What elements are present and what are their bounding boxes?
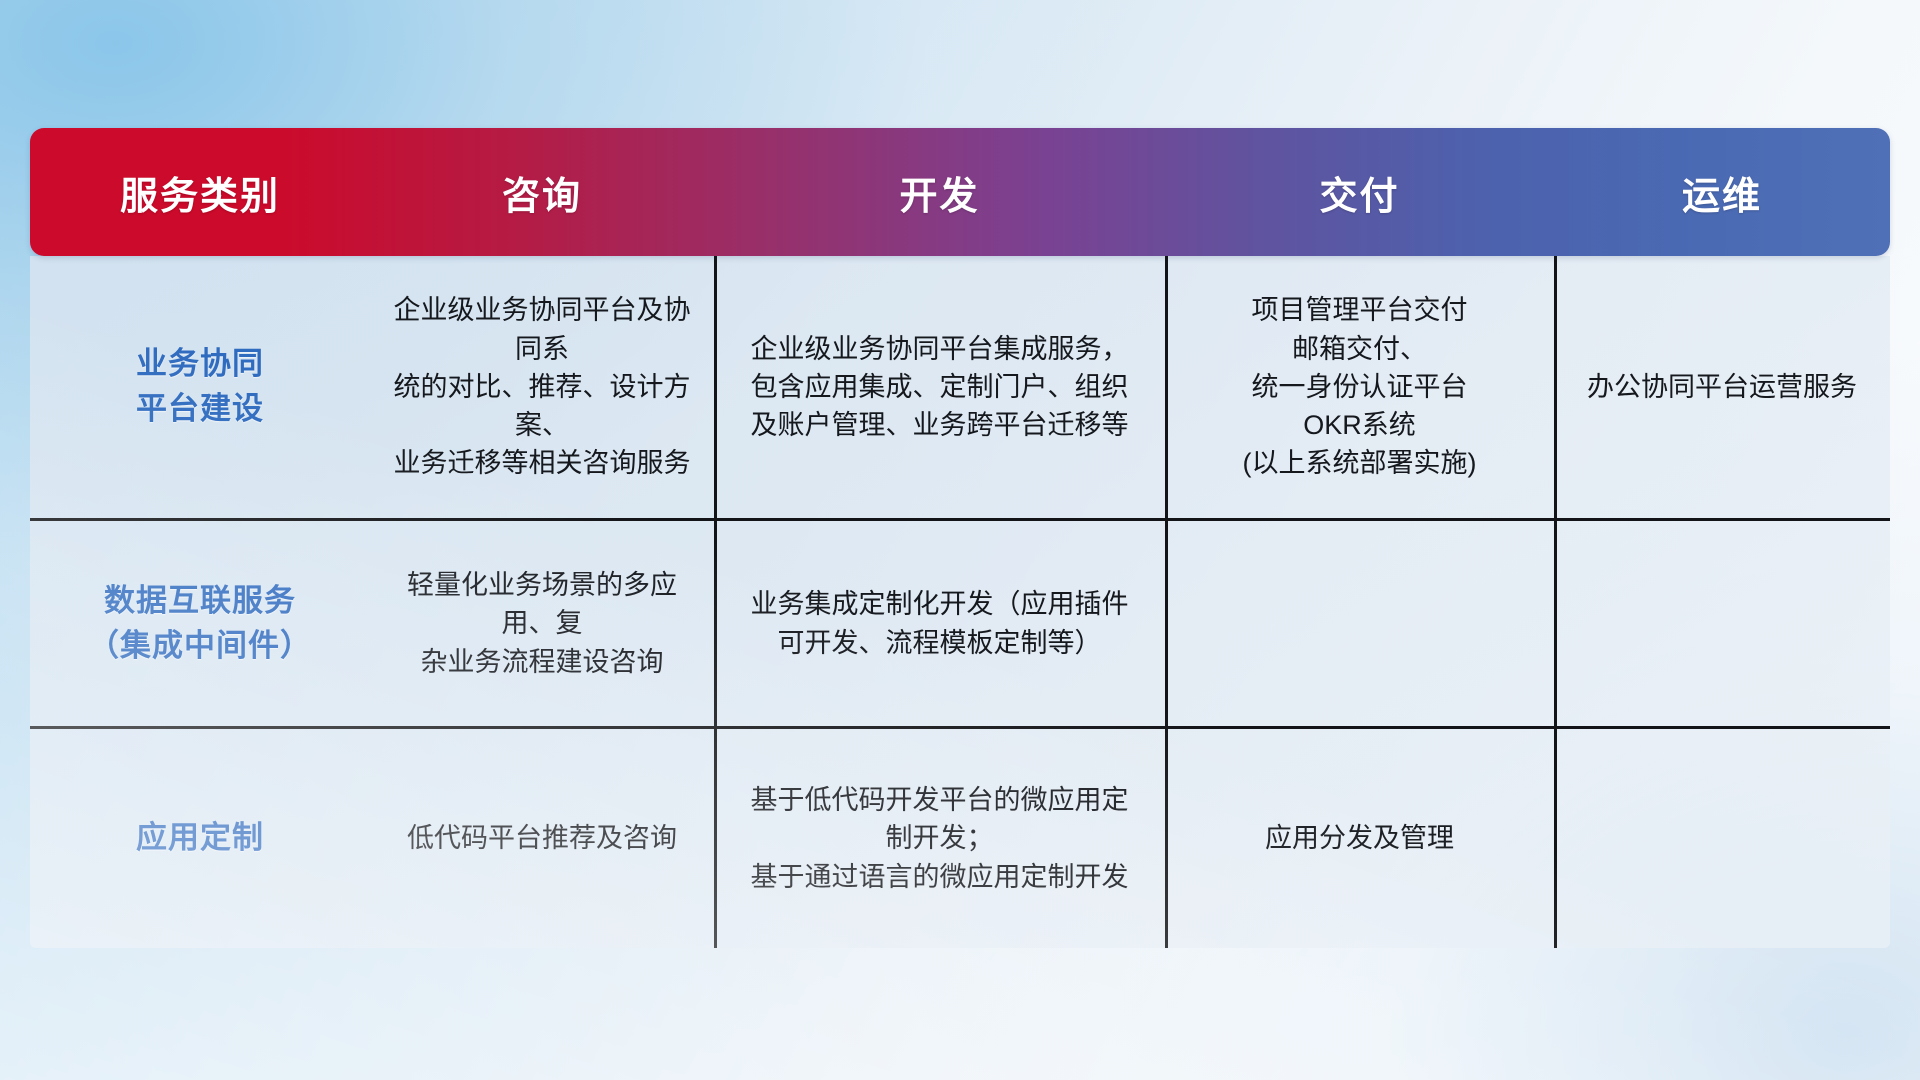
row-label-business-collaboration: 业务协同 平台建设 <box>30 256 370 518</box>
cell-r3-delivery: 应用分发及管理 <box>1165 729 1554 948</box>
table-row: 业务协同 平台建设 企业级业务协同平台及协同系 统的对比、推荐、设计方案、 业务… <box>30 256 1890 518</box>
cell-r3-consulting: 低代码平台推荐及咨询 <box>370 729 714 948</box>
cell-r3-development: 基于低代码开发平台的微应用定 制开发； 基于通过语言的微应用定制开发 <box>714 729 1165 948</box>
row-label-data-interconnect: 数据互联服务 （集成中间件） <box>30 521 370 726</box>
header-cell-development: 开发 <box>714 128 1165 256</box>
column-divider-2 <box>1165 256 1168 948</box>
table-header-row: 服务类别 咨询 开发 交付 运维 <box>30 128 1890 256</box>
row-label-app-customization: 应用定制 <box>30 729 370 948</box>
cell-r2-operations <box>1554 521 1890 726</box>
cell-r1-delivery: 项目管理平台交付 邮箱交付、 统一身份认证平台 OKR系统 (以上系统部署实施) <box>1165 256 1554 518</box>
header-cell-delivery: 交付 <box>1165 128 1554 256</box>
column-divider-3 <box>1554 256 1557 948</box>
header-cell-consulting: 咨询 <box>370 128 714 256</box>
slide-canvas: 服务类别 咨询 开发 交付 运维 业务协同 平台建设 企业级业务协同平台及协同系… <box>0 0 1920 1080</box>
cell-r2-development: 业务集成定制化开发（应用插件 可开发、流程模板定制等） <box>714 521 1165 726</box>
service-matrix-table: 服务类别 咨询 开发 交付 运维 业务协同 平台建设 企业级业务协同平台及协同系… <box>30 128 1890 948</box>
table-row: 应用定制 低代码平台推荐及咨询 基于低代码开发平台的微应用定 制开发； 基于通过… <box>30 729 1890 948</box>
column-divider-1 <box>714 256 717 948</box>
header-cell-service-category: 服务类别 <box>30 128 370 256</box>
cell-r1-development: 企业级业务协同平台集成服务， 包含应用集成、定制门户、组织 及账户管理、业务跨平… <box>714 256 1165 518</box>
table-row: 数据互联服务 （集成中间件） 轻量化业务场景的多应用、复 杂业务流程建设咨询 业… <box>30 521 1890 726</box>
cell-r1-operations: 办公协同平台运营服务 <box>1554 256 1890 518</box>
row-divider-1 <box>30 518 1890 521</box>
cell-r2-consulting: 轻量化业务场景的多应用、复 杂业务流程建设咨询 <box>370 521 714 726</box>
cell-r1-consulting: 企业级业务协同平台及协同系 统的对比、推荐、设计方案、 业务迁移等相关咨询服务 <box>370 256 714 518</box>
header-cell-operations: 运维 <box>1554 128 1890 256</box>
row-divider-2 <box>30 726 1890 729</box>
cell-r2-delivery <box>1165 521 1554 726</box>
cell-r3-operations <box>1554 729 1890 948</box>
